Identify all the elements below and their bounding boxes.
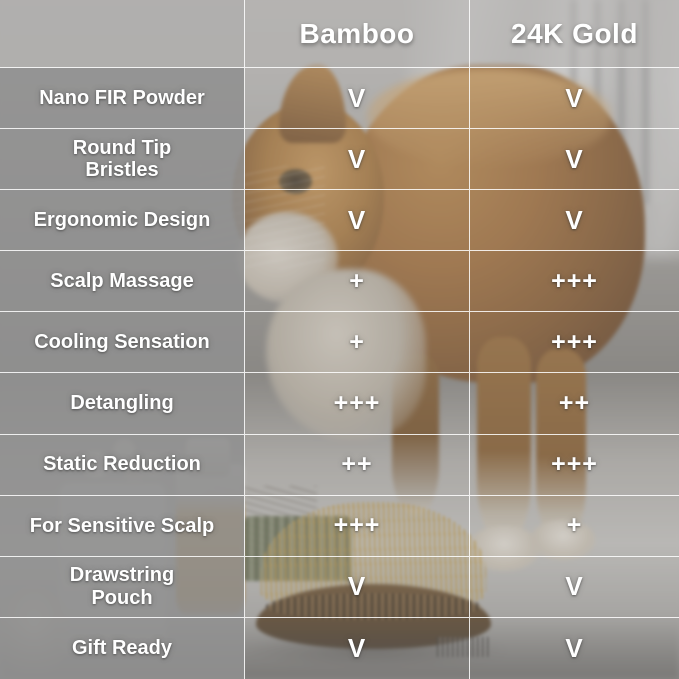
- cell-bamboo: +++: [245, 496, 470, 557]
- cell-gold: V: [470, 68, 679, 129]
- cell-gold: V: [470, 129, 679, 190]
- comparison-table: Bamboo 24K Gold Nano FIR Powder V V Roun…: [0, 0, 679, 679]
- row-label: Nano FIR Powder: [0, 68, 245, 129]
- column-header-gold: 24K Gold: [470, 0, 679, 68]
- cell-bamboo: V: [245, 557, 470, 618]
- cell-bamboo: +: [245, 312, 470, 373]
- cell-gold: +++: [470, 435, 679, 496]
- row-label: Static Reduction: [0, 435, 245, 496]
- column-header-bamboo: Bamboo: [245, 0, 470, 68]
- row-label: Ergonomic Design: [0, 190, 245, 251]
- comparison-table-graphic: Bamboo 24K Gold Nano FIR Powder V V Roun…: [0, 0, 679, 679]
- cell-bamboo: V: [245, 618, 470, 679]
- cell-bamboo: +++: [245, 373, 470, 434]
- cell-gold: +++: [470, 251, 679, 312]
- cell-gold: +++: [470, 312, 679, 373]
- cell-gold: V: [470, 618, 679, 679]
- row-label: Detangling: [0, 373, 245, 434]
- row-label: Cooling Sensation: [0, 312, 245, 373]
- cell-bamboo: ++: [245, 435, 470, 496]
- cell-bamboo: V: [245, 190, 470, 251]
- row-label: Round TipBristles: [0, 129, 245, 190]
- cell-gold: +: [470, 496, 679, 557]
- cell-gold: ++: [470, 373, 679, 434]
- table-corner-cell: [0, 0, 245, 68]
- cell-bamboo: V: [245, 129, 470, 190]
- cell-gold: V: [470, 190, 679, 251]
- cell-bamboo: +: [245, 251, 470, 312]
- cell-gold: V: [470, 557, 679, 618]
- row-label: Scalp Massage: [0, 251, 245, 312]
- row-label: For Sensitive Scalp: [0, 496, 245, 557]
- cell-bamboo: V: [245, 68, 470, 129]
- row-label: DrawstringPouch: [0, 557, 245, 618]
- row-label: Gift Ready: [0, 618, 245, 679]
